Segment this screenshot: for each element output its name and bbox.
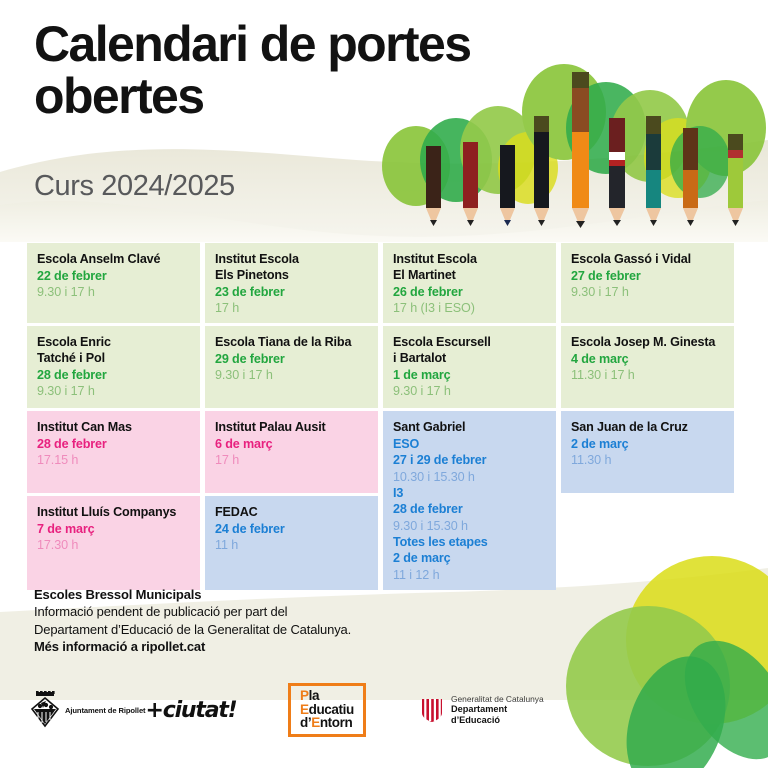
pla-d-text: d’: [300, 715, 311, 730]
schedule-cell[interactable]: Escola EnricTatché i Pol28 de febrer9.30…: [27, 326, 200, 408]
logo-generalitat-departament-educacio[interactable]: Generalitat de Catalunya Departament d’E…: [420, 686, 544, 734]
poster-header: Calendari de portes obertes Curs 2024/20…: [0, 0, 768, 232]
schedule-time: 11 h: [215, 537, 368, 553]
schedule-date: 27 i 29 de febrer: [393, 452, 546, 468]
schedule-time: 17.15 h: [37, 452, 190, 468]
school-name: Institut Escola: [215, 252, 368, 268]
logo-pla-educatiu-entorn[interactable]: Pla Educatiu d’Entorn: [288, 686, 366, 734]
school-name: Institut Lluís Companys: [37, 505, 190, 521]
school-name: Institut Can Mas: [37, 420, 190, 436]
schedule-time: 9.30 i 17 h: [37, 383, 190, 399]
school-name: Sant Gabriel: [393, 420, 546, 436]
schedule-time: 17 h: [215, 452, 368, 468]
notes-heading: Escoles Bressol Municipals: [34, 586, 504, 603]
school-name: Escola Escursell: [393, 335, 546, 351]
schedule-time: 17 h: [215, 300, 368, 316]
generalitat-line-1: Generalitat de Catalunya: [451, 694, 544, 704]
schedule-cell[interactable]: Institut Lluís Companys7 de març17.30 h: [27, 496, 200, 590]
schedule-time: 11 i 12 h: [393, 567, 546, 583]
notes-more-info: Més informació a ripollet.cat: [34, 638, 504, 655]
pla-line-1: Pla: [300, 689, 354, 703]
school-name: Escola Josep M. Ginesta: [571, 335, 724, 351]
generalitat-line-3: d’Educació: [451, 715, 544, 726]
page-title: Calendari de portes obertes: [34, 18, 574, 122]
footer-notes: Escoles Bressol Municipals Informació pe…: [34, 586, 504, 656]
logo-ajuntament-ripollet[interactable]: Ajuntament de Ripollet +ciutat!: [30, 686, 237, 734]
schedule-date: 29 de febrer: [215, 351, 368, 367]
schedule-date: 1 de març: [393, 367, 546, 383]
notes-line-3: Departament d’Educació de la Generalitat…: [34, 621, 504, 638]
schedule-date: 28 de febrer: [393, 501, 546, 517]
generalitat-shield-icon: [420, 697, 444, 723]
schedule-date: 24 de febrer: [215, 521, 368, 537]
logo-bar: Ajuntament de Ripollet +ciutat! Pla Educ…: [30, 686, 590, 736]
schedule-cell[interactable]: San Juan de la Cruz2 de març11.30 h: [561, 411, 734, 493]
pla-educatiu-box: Pla Educatiu d’Entorn: [288, 683, 366, 737]
schedule-time: 9.30 i 17 h: [393, 383, 546, 399]
schedule-time: 9.30 i 15.30 h: [393, 518, 546, 534]
schedule-time: 9.30 i 17 h: [571, 284, 724, 300]
page-subtitle: Curs 2024/2025: [34, 170, 235, 203]
schedule-date: 4 de març: [571, 351, 724, 367]
notes-line-2: Informació pendent de publicació per par…: [34, 603, 504, 620]
schedule-time: 17.30 h: [37, 537, 190, 553]
school-name-line2: i Bartalot: [393, 351, 546, 367]
school-name-line2: Els Pinetons: [215, 268, 368, 284]
school-name: Escola Tiana de la Riba: [215, 335, 368, 351]
schedule-cell[interactable]: Institut Palau Ausit6 de març17 h: [205, 411, 378, 493]
school-name: Escola Enric: [37, 335, 190, 351]
schedule-date: 7 de març: [37, 521, 190, 537]
schedule-date: 28 de febrer: [37, 436, 190, 452]
pla-line-2: Educatiu: [300, 703, 354, 717]
schedule-cell[interactable]: Institut EscolaEl Martinet26 de febrer17…: [383, 243, 556, 323]
pla-line-3: d’Entorn: [300, 716, 354, 730]
schedule-date: 23 de febrer: [215, 284, 368, 300]
schedule-cell[interactable]: Institut Can Mas28 de febrer17.15 h: [27, 411, 200, 493]
schedule-cell[interactable]: FEDAC24 de febrer11 h: [205, 496, 378, 590]
schedule-cell[interactable]: Institut EscolaEls Pinetons23 de febrer1…: [205, 243, 378, 323]
school-name-line2: El Martinet: [393, 268, 546, 284]
schedule-time: 11.30 i 17 h: [571, 367, 724, 383]
school-name-line2: Tatché i Pol: [37, 351, 190, 367]
schedule-date: 2 de març: [571, 436, 724, 452]
generalitat-line-2: Departament: [451, 704, 544, 715]
ajuntament-label: Ajuntament de Ripollet: [65, 706, 146, 715]
ciutat-logo-label: +ciutat!: [146, 698, 237, 723]
schedule-time: 10.30 i 15.30 h: [393, 469, 546, 485]
schedule-cell-empty: [561, 496, 734, 590]
schedule-cell[interactable]: Sant GabrielESO27 i 29 de febrer10.30 i …: [383, 411, 556, 590]
schedule-date: 22 de febrer: [37, 268, 190, 284]
poster: Calendari de portes obertes Curs 2024/20…: [0, 0, 768, 768]
school-name: FEDAC: [215, 505, 368, 521]
ripollet-crest-icon: [30, 690, 60, 730]
school-name: Institut Escola: [393, 252, 546, 268]
schedule-time: 9.30 i 17 h: [37, 284, 190, 300]
pla-e2-letter: E: [311, 715, 320, 730]
schedule-date: 6 de març: [215, 436, 368, 452]
schedule-date: 28 de febrer: [37, 367, 190, 383]
schedule-time: 11.30 h: [571, 452, 724, 468]
schedule-cell[interactable]: Escola Anselm Clavé22 de febrer9.30 i 17…: [27, 243, 200, 323]
schedule-grid: Escola Anselm Clavé22 de febrer9.30 i 17…: [27, 243, 741, 590]
schedule-cell[interactable]: Escola Josep M. Ginesta4 de març11.30 i …: [561, 326, 734, 408]
schedule-cell[interactable]: Escola Escurselli Bartalot1 de març9.30 …: [383, 326, 556, 408]
schedule-date: 27 de febrer: [571, 268, 724, 284]
schedule-date: 2 de març: [393, 550, 546, 566]
schedule-stage: Totes les etapes: [393, 534, 546, 550]
schedule-cell[interactable]: Escola Gassó i Vidal27 de febrer9.30 i 1…: [561, 243, 734, 323]
school-name: San Juan de la Cruz: [571, 420, 724, 436]
school-name: Escola Anselm Clavé: [37, 252, 190, 268]
schedule-stage: ESO: [393, 436, 546, 452]
schedule-cell[interactable]: Escola Tiana de la Riba29 de febrer9.30 …: [205, 326, 378, 408]
schedule-stage: I3: [393, 485, 546, 501]
schedule-date: 26 de febrer: [393, 284, 546, 300]
schedule-time: 9.30 i 17 h: [215, 367, 368, 383]
pla-ntorn-text: ntorn: [320, 715, 353, 730]
school-name: Escola Gassó i Vidal: [571, 252, 724, 268]
generalitat-text-block: Generalitat de Catalunya Departament d’E…: [451, 694, 544, 726]
school-name: Institut Palau Ausit: [215, 420, 368, 436]
schedule-time: 17 h (I3 i ESO): [393, 300, 546, 316]
